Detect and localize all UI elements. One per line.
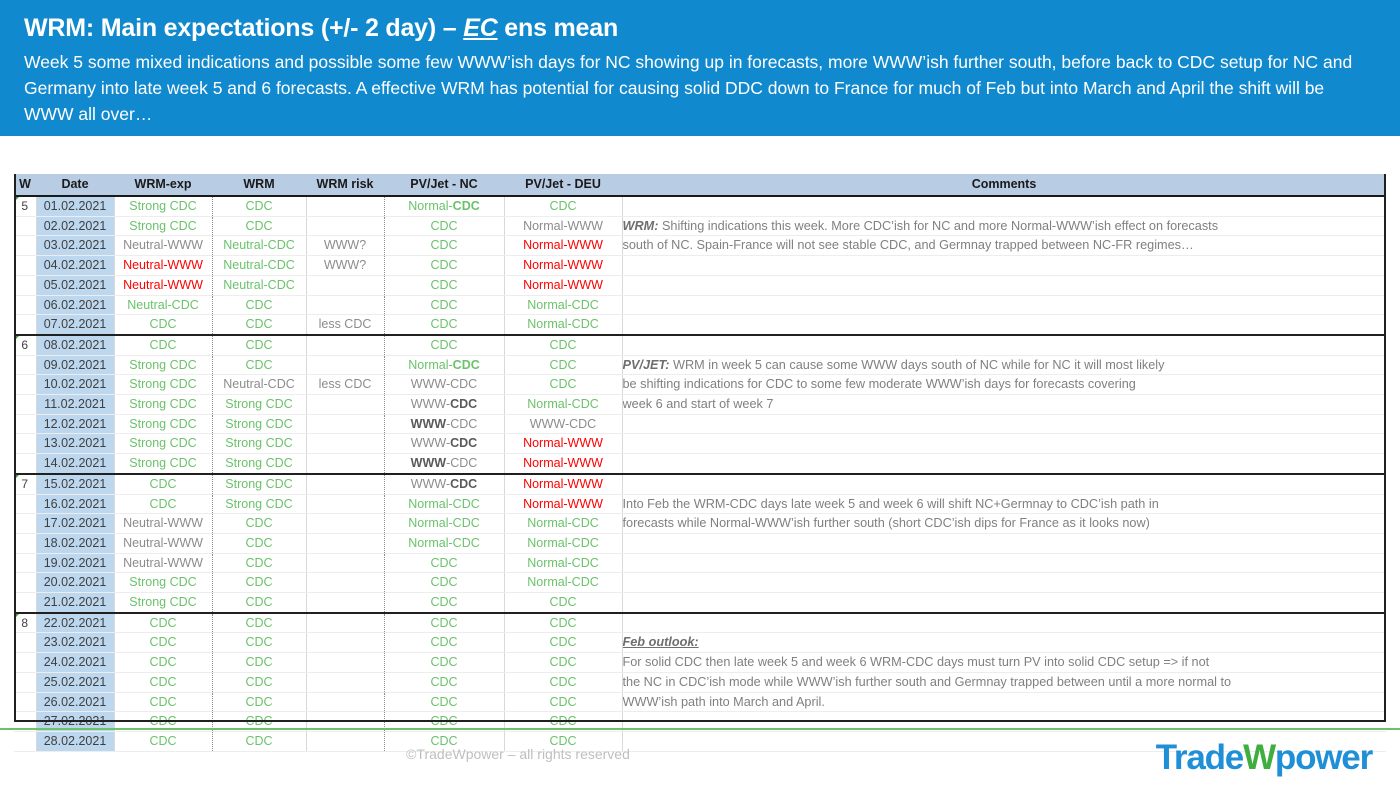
cell-week-number: [14, 375, 36, 395]
cell-pv-jet-nc: CDC: [384, 613, 504, 633]
title-banner: WRM: Main expectations (+/- 2 day) – EC …: [0, 0, 1400, 136]
cell-pv-jet-nc: CDC: [384, 256, 504, 276]
copyright-text: ©TradeWpower – all rights reserved: [0, 746, 1036, 762]
table-row[interactable]: 26.02.2021CDCCDCCDCCDCWWW’ish path into …: [14, 692, 1386, 712]
cell-wrm-exp: CDC: [114, 613, 212, 633]
pv-deu-part-a: Normal-CDC: [527, 317, 599, 331]
cell-wrm-risk: [306, 593, 384, 613]
cell-week-number: [14, 295, 36, 315]
cell-wrm: Strong CDC: [212, 454, 306, 474]
cell-comment: [622, 593, 1386, 613]
comment-body: the NC in CDC’ish mode while WWW’ish fur…: [623, 675, 1232, 689]
pv-nc-part-a: CDC: [430, 575, 457, 589]
comment-lead-label: PV/JET:: [623, 358, 670, 372]
cell-wrm: CDC: [212, 692, 306, 712]
cell-pv-jet-deu: CDC: [504, 196, 622, 216]
cell-week-number: [14, 494, 36, 514]
cell-pv-jet-deu: CDC: [504, 633, 622, 653]
pv-deu-part-a: Normal-WWW: [523, 456, 603, 470]
cell-wrm-risk: [306, 633, 384, 653]
pv-nc-part-a: CDC: [430, 238, 457, 252]
cell-pv-jet-nc: CDC: [384, 653, 504, 673]
cell-wrm: Neutral-CDC: [212, 375, 306, 395]
cell-week-number: [14, 216, 36, 236]
table-row[interactable]: 23.02.2021CDCCDCCDCCDCFeb outlook:: [14, 633, 1386, 653]
cell-wrm-risk: [306, 474, 384, 494]
cell-week-number: [14, 653, 36, 673]
pv-nc-part-a: CDC: [430, 258, 457, 272]
cell-pv-jet-nc: CDC: [384, 672, 504, 692]
col-header-pv-jet-nc[interactable]: PV/Jet - NC: [384, 174, 504, 196]
cell-wrm-exp: CDC: [114, 494, 212, 514]
cell-comment: Feb outlook:: [622, 633, 1386, 653]
cell-wrm: CDC: [212, 633, 306, 653]
cell-pv-jet-deu: Normal-CDC: [504, 315, 622, 335]
cell-week-number: [14, 395, 36, 415]
table-row[interactable]: 04.02.2021Neutral-WWWNeutral-CDCWWW?CDCN…: [14, 256, 1386, 276]
cell-week-number: 8: [14, 613, 36, 633]
cell-wrm-risk: less CDC: [306, 375, 384, 395]
table-row[interactable]: 10.02.2021Strong CDCNeutral-CDCless CDCW…: [14, 375, 1386, 395]
cell-date: 23.02.2021: [36, 633, 114, 653]
cell-comment: forecasts while Normal-WWW’ish further s…: [622, 514, 1386, 534]
pv-deu-part-a: Normal-WWW: [523, 497, 603, 511]
cell-comment: [622, 295, 1386, 315]
cell-date: 13.02.2021: [36, 434, 114, 454]
pv-nc-part-b: CDC: [450, 477, 477, 491]
table-row[interactable]: 715.02.2021CDCStrong CDCWWW-CDCNormal-WW…: [14, 474, 1386, 494]
cell-pv-jet-deu: Normal-WWW: [504, 236, 622, 256]
cell-date: 18.02.2021: [36, 533, 114, 553]
cell-wrm: CDC: [212, 672, 306, 692]
table-row[interactable]: 12.02.2021Strong CDCStrong CDCWWW-CDCWWW…: [14, 414, 1386, 434]
cell-wrm-risk: [306, 454, 384, 474]
pv-nc-part-a: CDC: [430, 219, 457, 233]
cell-pv-jet-deu: Normal-CDC: [504, 533, 622, 553]
cell-wrm-risk: [306, 692, 384, 712]
cell-wrm-exp: Strong CDC: [114, 216, 212, 236]
cell-pv-jet-nc: CDC: [384, 335, 504, 355]
col-header-wrm[interactable]: WRM: [212, 174, 306, 196]
cell-pv-jet-nc: Normal-CDC: [384, 514, 504, 534]
cell-pv-jet-deu: Normal-CDC: [504, 573, 622, 593]
cell-pv-jet-nc: CDC: [384, 275, 504, 295]
pv-nc-part-a: CDC: [430, 556, 457, 570]
cell-date: 26.02.2021: [36, 692, 114, 712]
cell-date: 21.02.2021: [36, 593, 114, 613]
cell-wrm: CDC: [212, 573, 306, 593]
cell-comment: [622, 315, 1386, 335]
pv-nc-part-a: CDC: [430, 278, 457, 292]
pv-deu-part-a: Normal-WWW: [523, 238, 603, 252]
cell-wrm: CDC: [212, 295, 306, 315]
cell-wrm-risk: [306, 494, 384, 514]
cell-pv-jet-deu: CDC: [504, 613, 622, 633]
cell-wrm-risk: [306, 395, 384, 415]
table-row[interactable]: 501.02.2021Strong CDCCDCNormal-CDCCDC: [14, 196, 1386, 216]
table-row[interactable]: 02.02.2021Strong CDCCDCCDCNormal-WWWWRM:…: [14, 216, 1386, 236]
table-row[interactable]: 06.02.2021Neutral-CDCCDCCDCNormal-CDC: [14, 295, 1386, 315]
cell-wrm-risk: [306, 653, 384, 673]
comment-body: For solid CDC then late week 5 and week …: [623, 655, 1210, 669]
cell-wrm-exp: Strong CDC: [114, 593, 212, 613]
cell-wrm-exp: Neutral-WWW: [114, 236, 212, 256]
cell-comment: [622, 573, 1386, 593]
cell-pv-jet-deu: Normal-CDC: [504, 553, 622, 573]
pv-deu-part-a: Normal-CDC: [527, 516, 599, 530]
cell-comment: WRM: Shifting indications this week. Mor…: [622, 216, 1386, 236]
cell-week-number: [14, 256, 36, 276]
cell-pv-jet-deu: Normal-CDC: [504, 295, 622, 315]
table-row[interactable]: 11.02.2021Strong CDCStrong CDCWWW-CDCNor…: [14, 395, 1386, 415]
table-row[interactable]: 03.02.2021Neutral-WWWNeutral-CDCWWW?CDCN…: [14, 236, 1386, 256]
cell-week-number: [14, 434, 36, 454]
table-body: 501.02.2021Strong CDCCDCNormal-CDCCDC02.…: [14, 196, 1386, 751]
forecast-table: W Date WRM-exp WRM WRM risk PV/Jet - NC …: [14, 174, 1386, 752]
cell-comment: WWW’ish path into March and April.: [622, 692, 1386, 712]
cell-pv-jet-nc: CDC: [384, 315, 504, 335]
cell-date: 02.02.2021: [36, 216, 114, 236]
pv-deu-part-a: CDC: [549, 655, 576, 669]
table-row[interactable]: 25.02.2021CDCCDCCDCCDCthe NC in CDC’ish …: [14, 672, 1386, 692]
cell-wrm: CDC: [212, 533, 306, 553]
cell-comment: the NC in CDC’ish mode while WWW’ish fur…: [622, 672, 1386, 692]
cell-week-number: [14, 593, 36, 613]
cell-date: 25.02.2021: [36, 672, 114, 692]
cell-wrm-exp: CDC: [114, 315, 212, 335]
pv-nc-part-a: CDC: [430, 714, 457, 728]
cell-wrm-exp: Strong CDC: [114, 395, 212, 415]
cell-date: 17.02.2021: [36, 514, 114, 534]
table-row[interactable]: 16.02.2021CDCStrong CDCNormal-CDCNormal-…: [14, 494, 1386, 514]
cell-date: 22.02.2021: [36, 613, 114, 633]
cell-pv-jet-nc: Normal-CDC: [384, 196, 504, 216]
cell-wrm-risk: WWW?: [306, 256, 384, 276]
pv-deu-part-a: Normal-WWW: [523, 477, 603, 491]
comment-body: south of NC. Spain-France will not see s…: [623, 238, 1194, 252]
cell-wrm-exp: Strong CDC: [114, 454, 212, 474]
comment-body: WWW’ish path into March and April.: [623, 695, 825, 709]
page-subtitle: Week 5 some mixed indications and possib…: [24, 49, 1376, 128]
cell-comment: be shifting indications for CDC to some …: [622, 375, 1386, 395]
cell-date: 03.02.2021: [36, 236, 114, 256]
pv-nc-part-b: -CDC: [446, 456, 477, 470]
cell-pv-jet-nc: Normal-CDC: [384, 533, 504, 553]
cell-date: 10.02.2021: [36, 375, 114, 395]
pv-deu-part-a: CDC: [549, 675, 576, 689]
comment-body: Into Feb the WRM-CDC days late week 5 an…: [623, 497, 1159, 511]
cell-pv-jet-nc: WWW-CDC: [384, 434, 504, 454]
page-title-pre: WRM: Main expectations (+/- 2 day) –: [24, 14, 463, 42]
cell-wrm-risk: [306, 275, 384, 295]
cell-week-number: [14, 533, 36, 553]
pv-nc-part-a: CDC: [430, 317, 457, 331]
cell-date: 15.02.2021: [36, 474, 114, 494]
cell-pv-jet-deu: CDC: [504, 355, 622, 375]
page-title-emphasis: EC: [463, 14, 497, 42]
table-row[interactable]: 24.02.2021CDCCDCCDCCDCFor solid CDC then…: [14, 653, 1386, 673]
cell-comment: [622, 434, 1386, 454]
cell-wrm-risk: [306, 196, 384, 216]
cell-pv-jet-nc: Normal-CDC: [384, 355, 504, 375]
cell-wrm-exp: Strong CDC: [114, 414, 212, 434]
cell-wrm-exp: Neutral-WWW: [114, 256, 212, 276]
tradewpower-logo: TradeWpower: [1156, 738, 1372, 778]
table-row[interactable]: 17.02.2021Neutral-WWWCDCNormal-CDCNormal…: [14, 514, 1386, 534]
cell-wrm-risk: less CDC: [306, 315, 384, 335]
col-header-date[interactable]: Date: [36, 174, 114, 196]
cell-comment: [622, 275, 1386, 295]
cell-wrm: Strong CDC: [212, 414, 306, 434]
pv-deu-part-a: Normal-CDC: [527, 536, 599, 550]
cell-wrm-exp: Strong CDC: [114, 196, 212, 216]
table-row[interactable]: 19.02.2021Neutral-WWWCDCCDCNormal-CDC: [14, 553, 1386, 573]
cell-pv-jet-nc: Normal-CDC: [384, 494, 504, 514]
pv-deu-part-a: CDC: [549, 358, 576, 372]
cell-comment: [622, 196, 1386, 216]
pv-nc-part-a: CDC: [430, 298, 457, 312]
table-row[interactable]: 07.02.2021CDCCDCless CDCCDCNormal-CDC: [14, 315, 1386, 335]
cell-wrm: Strong CDC: [212, 395, 306, 415]
cell-pv-jet-deu: WWW-CDC: [504, 414, 622, 434]
cell-wrm-exp: Neutral-WWW: [114, 533, 212, 553]
pv-nc-part-a: Normal-CDC: [408, 536, 480, 550]
cell-wrm: CDC: [212, 335, 306, 355]
pv-deu-part-a: Normal-WWW: [523, 258, 603, 272]
pv-deu-part-a: CDC: [549, 616, 576, 630]
cell-wrm-exp: CDC: [114, 692, 212, 712]
cell-date: 08.02.2021: [36, 335, 114, 355]
col-header-wrm-risk[interactable]: WRM risk: [306, 174, 384, 196]
cell-wrm-exp: Strong CDC: [114, 573, 212, 593]
cell-wrm: Strong CDC: [212, 494, 306, 514]
pv-deu-part-a: CDC: [549, 695, 576, 709]
cell-wrm-exp: Neutral-WWW: [114, 275, 212, 295]
cell-wrm: CDC: [212, 653, 306, 673]
cell-comment: [622, 533, 1386, 553]
pv-nc-part-a: Normal-CDC: [408, 497, 480, 511]
table-row[interactable]: 21.02.2021Strong CDCCDCCDCCDC: [14, 593, 1386, 613]
table-row[interactable]: 13.02.2021Strong CDCStrong CDCWWW-CDCNor…: [14, 434, 1386, 454]
cell-pv-jet-deu: CDC: [504, 692, 622, 712]
pv-nc-part-a: Normal-CDC: [408, 516, 480, 530]
pv-nc-part-a: Normal-: [408, 358, 452, 372]
cell-pv-jet-nc: WWW-CDC: [384, 375, 504, 395]
cell-wrm-exp: CDC: [114, 653, 212, 673]
cell-comment: PV/JET: WRM in week 5 can cause some WWW…: [622, 355, 1386, 375]
cell-wrm-exp: CDC: [114, 672, 212, 692]
cell-pv-jet-nc: WWW-CDC: [384, 454, 504, 474]
cell-wrm-exp: Neutral-WWW: [114, 553, 212, 573]
cell-wrm-exp: CDC: [114, 633, 212, 653]
cell-comment: south of NC. Spain-France will not see s…: [622, 236, 1386, 256]
cell-week-number: [14, 633, 36, 653]
cell-pv-jet-deu: Normal-WWW: [504, 216, 622, 236]
pv-nc-part-b: CDC: [450, 397, 477, 411]
cell-wrm-risk: [306, 672, 384, 692]
cell-week-number: [14, 315, 36, 335]
pv-deu-part-a: Normal-WWW: [523, 436, 603, 450]
col-header-pv-jet-deu[interactable]: PV/Jet - DEU: [504, 174, 622, 196]
cell-pv-jet-deu: CDC: [504, 335, 622, 355]
pv-nc-part-a: CDC: [430, 655, 457, 669]
comment-section-heading: Feb outlook:: [623, 635, 699, 649]
cell-week-number: [14, 573, 36, 593]
cell-wrm-risk: [306, 355, 384, 375]
cell-date: 01.02.2021: [36, 196, 114, 216]
pv-nc-part-a: CDC: [430, 338, 457, 352]
pv-deu-part-a: Normal-CDC: [527, 556, 599, 570]
table-row[interactable]: 822.02.2021CDCCDCCDCCDC: [14, 613, 1386, 633]
cell-pv-jet-nc: CDC: [384, 593, 504, 613]
cell-wrm-exp: Strong CDC: [114, 375, 212, 395]
pv-deu-part-a: Normal-CDC: [527, 575, 599, 589]
cell-wrm-exp: Neutral-WWW: [114, 514, 212, 534]
pv-deu-part-a: CDC: [549, 338, 576, 352]
cell-wrm: CDC: [212, 315, 306, 335]
cell-wrm: Strong CDC: [212, 434, 306, 454]
cell-date: 07.02.2021: [36, 315, 114, 335]
pv-nc-part-a: WWW: [411, 456, 446, 470]
cell-week-number: [14, 355, 36, 375]
comment-body: WRM in week 5 can cause some WWW days so…: [670, 358, 1165, 372]
cell-wrm-risk: [306, 434, 384, 454]
cell-wrm-risk: WWW?: [306, 236, 384, 256]
table-row[interactable]: 608.02.2021CDCCDCCDCCDC: [14, 335, 1386, 355]
cell-week-number: 7: [14, 474, 36, 494]
pv-nc-part-b: CDC: [453, 358, 480, 372]
pv-deu-part-a: WWW-CDC: [530, 417, 596, 431]
cell-week-number: [14, 414, 36, 434]
page-title: WRM: Main expectations (+/- 2 day) – EC …: [24, 14, 1376, 43]
cell-wrm-exp: CDC: [114, 474, 212, 494]
pv-deu-part-a: CDC: [549, 199, 576, 213]
col-header-w[interactable]: W: [14, 174, 36, 196]
cell-wrm: CDC: [212, 613, 306, 633]
cell-date: 04.02.2021: [36, 256, 114, 276]
cell-pv-jet-nc: CDC: [384, 295, 504, 315]
pv-deu-part-a: CDC: [549, 714, 576, 728]
page-title-post: ens mean: [498, 14, 618, 42]
cell-date: 16.02.2021: [36, 494, 114, 514]
cell-pv-jet-deu: CDC: [504, 672, 622, 692]
comment-body: Shifting indications this week. More CDC…: [658, 219, 1218, 233]
cell-date: 06.02.2021: [36, 295, 114, 315]
cell-week-number: [14, 454, 36, 474]
cell-wrm: CDC: [212, 553, 306, 573]
pv-nc-part-b: CDC: [450, 436, 477, 450]
pv-nc-part-a: CDC: [430, 595, 457, 609]
cell-pv-jet-deu: Normal-WWW: [504, 434, 622, 454]
cell-pv-jet-deu: Normal-WWW: [504, 256, 622, 276]
pv-nc-part-a: WWW: [411, 417, 446, 431]
logo-text-power: power: [1275, 738, 1372, 777]
comment-lead-label: WRM:: [623, 219, 659, 233]
cell-wrm: CDC: [212, 355, 306, 375]
cell-wrm: CDC: [212, 196, 306, 216]
pv-nc-part-a: WWW-: [411, 477, 450, 491]
logo-text-w: W: [1243, 738, 1275, 777]
cell-pv-jet-deu: Normal-WWW: [504, 275, 622, 295]
pv-deu-part-a: CDC: [549, 377, 576, 391]
pv-nc-part-a: WWW-: [411, 397, 450, 411]
cell-comment: [622, 454, 1386, 474]
pv-nc-part-a: Normal-: [408, 199, 452, 213]
cell-week-number: [14, 672, 36, 692]
cell-wrm-exp: Neutral-CDC: [114, 295, 212, 315]
cell-date: 12.02.2021: [36, 414, 114, 434]
cell-wrm-risk: [306, 573, 384, 593]
cell-pv-jet-deu: Normal-CDC: [504, 395, 622, 415]
cell-date: 14.02.2021: [36, 454, 114, 474]
cell-pv-jet-nc: CDC: [384, 236, 504, 256]
logo-text-trade: Trade: [1156, 738, 1243, 777]
cell-wrm: CDC: [212, 593, 306, 613]
cell-wrm-risk: [306, 216, 384, 236]
cell-wrm-risk: [306, 414, 384, 434]
cell-pv-jet-deu: Normal-WWW: [504, 494, 622, 514]
cell-comment: [622, 613, 1386, 633]
cell-comment: [622, 335, 1386, 355]
cell-wrm-risk: [306, 335, 384, 355]
comment-body: be shifting indications for CDC to some …: [623, 377, 1136, 391]
cell-wrm: Neutral-CDC: [212, 236, 306, 256]
table-row[interactable]: 18.02.2021Neutral-WWWCDCNormal-CDCNormal…: [14, 533, 1386, 553]
pv-deu-part-a: Normal-WWW: [523, 219, 603, 233]
cell-week-number: [14, 275, 36, 295]
cell-week-number: [14, 514, 36, 534]
cell-comment: [622, 553, 1386, 573]
pv-nc-part-a: CDC: [430, 616, 457, 630]
cell-wrm-risk: [306, 613, 384, 633]
cell-week-number: 6: [14, 335, 36, 355]
cell-comment: week 6 and start of week 7: [622, 395, 1386, 415]
cell-pv-jet-deu: Normal-WWW: [504, 474, 622, 494]
table-row[interactable]: 09.02.2021Strong CDCCDCNormal-CDCCDCPV/J…: [14, 355, 1386, 375]
cell-wrm-exp: CDC: [114, 335, 212, 355]
pv-deu-part-a: CDC: [549, 595, 576, 609]
cell-pv-jet-deu: CDC: [504, 375, 622, 395]
col-header-comments[interactable]: Comments: [622, 174, 1386, 196]
cell-comment: For solid CDC then late week 5 and week …: [622, 653, 1386, 673]
cell-pv-jet-deu: Normal-CDC: [504, 514, 622, 534]
cell-wrm-exp: Strong CDC: [114, 355, 212, 375]
cell-week-number: [14, 236, 36, 256]
comment-body: week 6 and start of week 7: [623, 397, 774, 411]
table-row[interactable]: 14.02.2021Strong CDCStrong CDCWWW-CDCNor…: [14, 454, 1386, 474]
cell-date: 05.02.2021: [36, 275, 114, 295]
cell-wrm: Neutral-CDC: [212, 256, 306, 276]
cell-wrm: Neutral-CDC: [212, 275, 306, 295]
table-header-row: W Date WRM-exp WRM WRM risk PV/Jet - NC …: [14, 174, 1386, 196]
cell-pv-jet-deu: CDC: [504, 593, 622, 613]
pv-nc-part-b: -CDC: [446, 417, 477, 431]
forecast-table-wrapper: W Date WRM-exp WRM WRM risk PV/Jet - NC …: [14, 174, 1386, 752]
cell-pv-jet-nc: CDC: [384, 553, 504, 573]
table-row[interactable]: 05.02.2021Neutral-WWWNeutral-CDCCDCNorma…: [14, 275, 1386, 295]
cell-wrm: CDC: [212, 216, 306, 236]
pv-deu-part-a: Normal-CDC: [527, 397, 599, 411]
cell-date: 19.02.2021: [36, 553, 114, 573]
pv-deu-part-a: CDC: [549, 635, 576, 649]
cell-week-number: 5: [14, 196, 36, 216]
cell-comment: [622, 256, 1386, 276]
cell-pv-jet-nc: WWW-CDC: [384, 395, 504, 415]
cell-week-number: [14, 692, 36, 712]
cell-pv-jet-nc: WWW-CDC: [384, 414, 504, 434]
table-row[interactable]: 20.02.2021Strong CDCCDCCDCNormal-CDC: [14, 573, 1386, 593]
col-header-wrm-exp[interactable]: WRM-exp: [114, 174, 212, 196]
